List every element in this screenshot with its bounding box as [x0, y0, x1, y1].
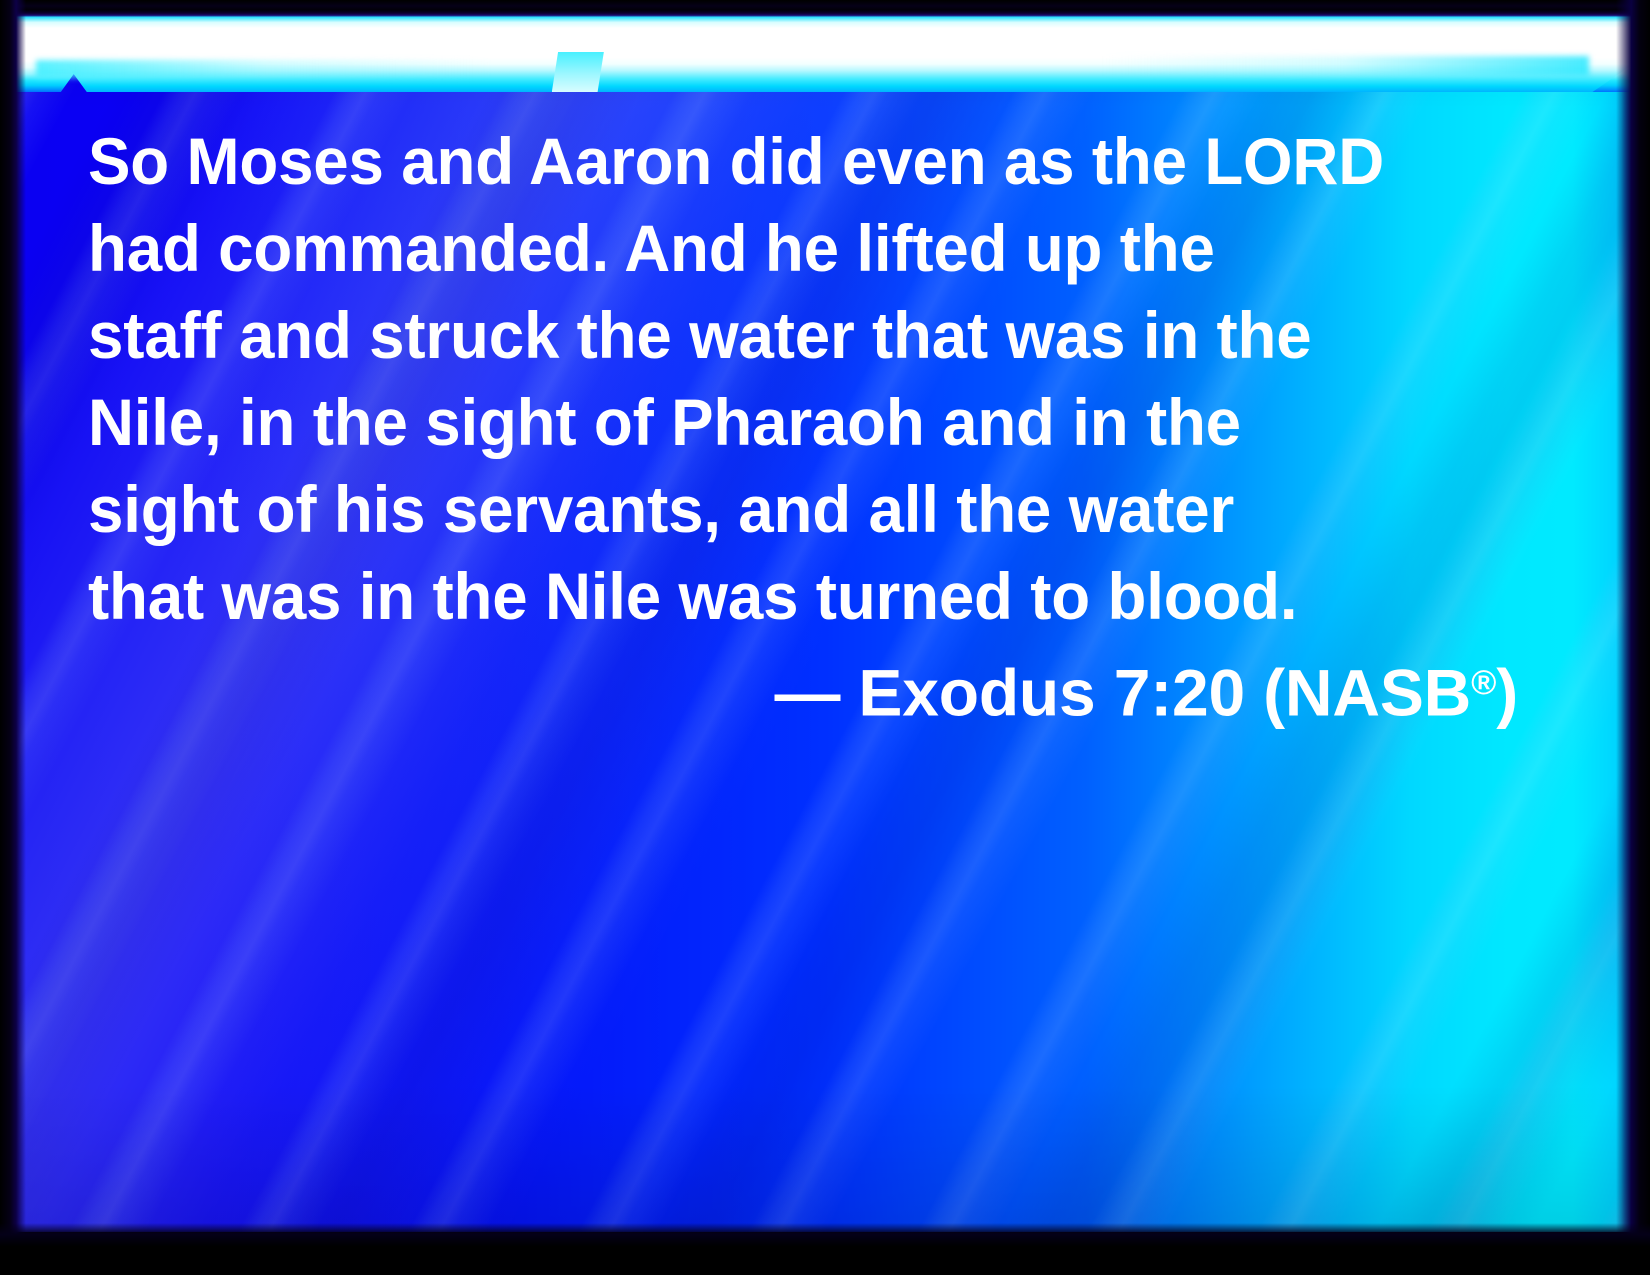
verse-citation: — Exodus 7:20 (NASB®) [88, 640, 1518, 736]
verse-text-block: So Moses and Aaron did even as the LORD … [88, 118, 1518, 736]
registered-trademark-icon: ® [1471, 664, 1496, 702]
verse-line-5: sight of his servants, and all the water [88, 466, 1468, 553]
banner-wisp-right [1101, 56, 1589, 76]
citation-suffix: ) [1496, 655, 1518, 729]
scripture-slide: So Moses and Aaron did even as the LORD … [0, 0, 1650, 1275]
banner-white-slab [12, 10, 1638, 92]
banner-wisp-left [36, 60, 491, 78]
top-light-banner [12, 10, 1638, 92]
verse-line-1: So Moses and Aaron did even as the LORD [88, 118, 1468, 205]
citation-prefix: — Exodus 7:20 (NASB [774, 655, 1471, 729]
banner-notch [552, 52, 604, 92]
banner-top-edge [12, 10, 1638, 17]
verse-line-6: that was in the Nile was turned to blood… [88, 553, 1468, 640]
verse-line-3: staff and struck the water that was in t… [88, 292, 1468, 379]
verse-line-4: Nile, in the sight of Pharaoh and in the [88, 379, 1468, 466]
verse-line-2: had commanded. And he lifted up the [88, 205, 1468, 292]
slide-panel: So Moses and Aaron did even as the LORD … [12, 10, 1638, 1232]
